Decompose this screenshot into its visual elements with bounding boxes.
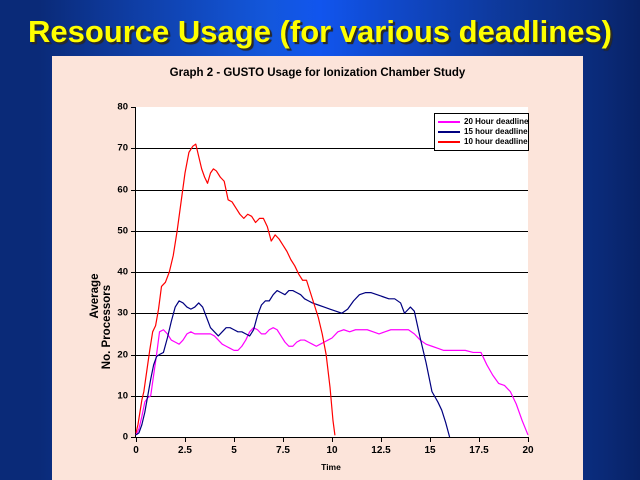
x-axis-title: Time xyxy=(135,462,527,472)
legend-item-label: 15 hour deadline xyxy=(464,128,528,136)
legend-item[interactable]: 20 Hour deadline xyxy=(438,117,525,126)
legend-item-label: 10 hour deadline xyxy=(464,138,528,146)
x-axis-tick xyxy=(234,437,235,442)
y-axis-tick-label: 40 xyxy=(117,267,128,278)
series-line xyxy=(136,328,528,435)
y-axis-tick-label: 60 xyxy=(117,184,128,195)
legend-item[interactable]: 15 hour deadline xyxy=(438,127,525,136)
legend-color-swatch xyxy=(438,141,460,143)
x-axis-tick-label: 7.5 xyxy=(276,445,290,456)
series-line xyxy=(136,144,335,435)
y-axis-title-line2: No. Processors xyxy=(101,272,113,382)
y-axis-tick-label: 20 xyxy=(117,349,128,360)
x-axis-tick-label: 12.5 xyxy=(371,445,390,456)
x-axis-tick xyxy=(185,437,186,442)
y-axis-title: Average No. Processors xyxy=(72,206,118,346)
y-axis-tick-label: 50 xyxy=(117,225,128,236)
y-axis-tick-label: 30 xyxy=(117,308,128,319)
x-axis-tick-label: 10 xyxy=(326,445,337,456)
x-axis-tick xyxy=(479,437,480,442)
plot-area: 01020304050607080 02.557.51012.51517.520 xyxy=(135,107,528,438)
y-axis-tick-label: 0 xyxy=(123,432,128,443)
legend-color-swatch xyxy=(438,121,460,123)
y-axis-tick-label: 80 xyxy=(117,102,128,113)
x-axis-tick xyxy=(430,437,431,442)
x-axis-tick-label: 15 xyxy=(424,445,435,456)
y-axis-tick-label: 70 xyxy=(117,143,128,154)
y-axis-title-line1: Average xyxy=(89,251,101,341)
x-axis-tick xyxy=(283,437,284,442)
legend-item-label: 20 Hour deadline xyxy=(464,118,528,126)
presentation-slide: Resource Usage (for various deadlines) G… xyxy=(0,0,640,480)
x-axis-tick xyxy=(381,437,382,442)
x-axis-tick-label: 20 xyxy=(522,445,533,456)
x-axis-tick-label: 2.5 xyxy=(178,445,192,456)
x-axis-tick-label: 17.5 xyxy=(469,445,488,456)
y-axis-tick-label: 10 xyxy=(117,390,128,401)
x-axis-tick-label: 5 xyxy=(231,445,237,456)
chart-legend: 20 Hour deadline15 hour deadline10 hour … xyxy=(434,113,529,151)
x-axis-tick-label: 0 xyxy=(133,445,139,456)
page-title: Resource Usage (for various deadlines) xyxy=(0,14,640,50)
x-axis-tick xyxy=(332,437,333,442)
chart-title: Graph 2 - GUSTO Usage for Ionization Cha… xyxy=(52,67,583,79)
series-line xyxy=(136,291,450,437)
x-axis-tick xyxy=(528,437,529,442)
legend-item[interactable]: 10 hour deadline xyxy=(438,137,525,146)
chart-panel: Graph 2 - GUSTO Usage for Ionization Cha… xyxy=(52,56,583,480)
series-lines xyxy=(136,107,528,437)
x-axis-tick xyxy=(136,437,137,442)
legend-color-swatch xyxy=(438,131,460,133)
